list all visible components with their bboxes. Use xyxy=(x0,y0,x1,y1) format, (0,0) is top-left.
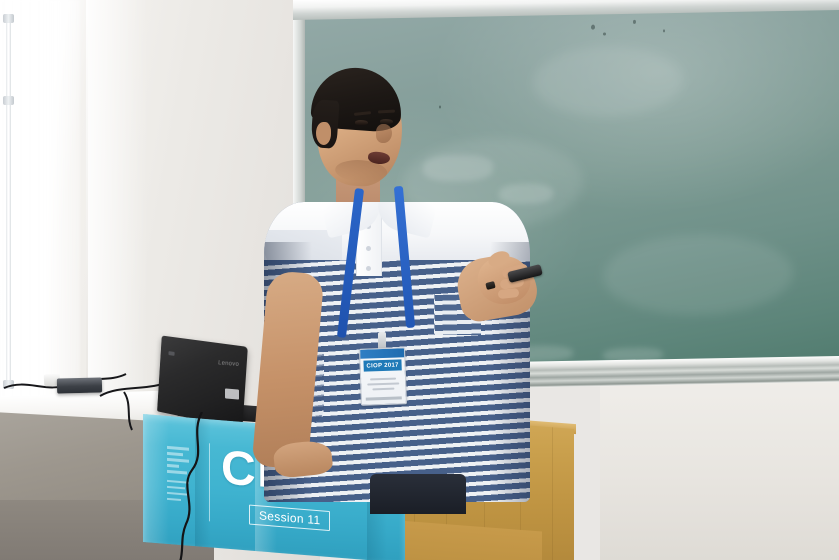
badge-header-bar xyxy=(360,348,404,359)
window-light-glow xyxy=(0,0,80,400)
badge-footer-bar xyxy=(366,396,402,400)
shirt-button-bottom xyxy=(366,266,371,271)
shirt-button-mid xyxy=(366,246,371,251)
conference-badge[interactable]: CIOP 2017 xyxy=(359,347,407,406)
right-wall xyxy=(600,370,839,560)
badge-event-text: CIOP 2017 xyxy=(366,362,398,369)
badge-event-band: CIOP 2017 xyxy=(363,359,401,371)
speaker-person: CIOP 2017 xyxy=(250,60,580,480)
presentation-photo-scene: Lenovo CIOP Session 11 xyxy=(0,0,839,560)
trousers xyxy=(370,474,466,514)
wall-column-highlight xyxy=(88,0,148,420)
laptop-brand-label: Lenovo xyxy=(217,360,238,368)
eye-left xyxy=(355,120,368,125)
tube-cap-top xyxy=(3,14,14,23)
ear xyxy=(316,122,331,145)
tube-cap-mid xyxy=(3,96,14,105)
thinkpad-badge-icon xyxy=(168,351,174,356)
power-adapter-brick xyxy=(57,377,102,393)
laptop-sticker xyxy=(225,388,239,399)
fluorescent-tube-light-icon xyxy=(6,18,11,386)
